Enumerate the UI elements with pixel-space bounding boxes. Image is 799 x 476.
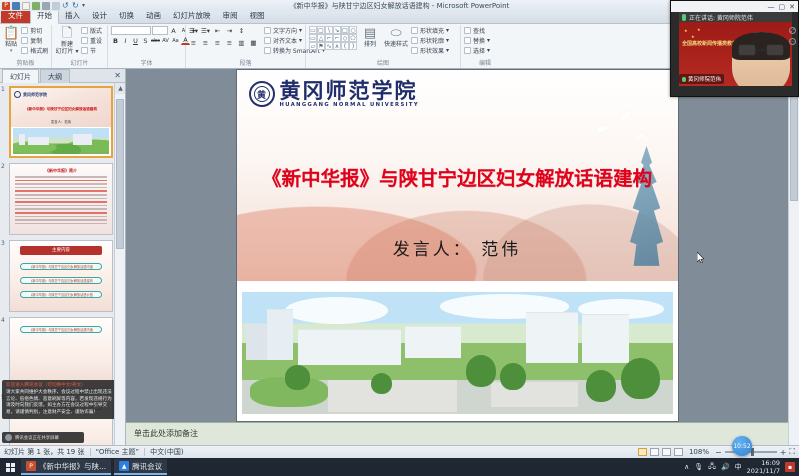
thumbnail-slide-2[interactable]: 2 《新中华报》简介 (9, 163, 113, 235)
clipboard-group-label: 剪贴板 (3, 60, 48, 68)
current-slide[interactable]: 黄 黄冈师范学院 HUANGGANG NORMAL UNIVERSITY 《新中… (237, 70, 678, 421)
ribbon-group-paragraph: ☰▾ ☰▾ ⇤ ⇥ ↕ ≡ ≡ ≡ ≡ ▥ ▦ (186, 25, 306, 68)
layout-button[interactable]: 版式 (81, 26, 102, 35)
tree (500, 363, 526, 390)
character-spacing-button[interactable]: AV (161, 36, 170, 45)
volume-icon[interactable]: 🔊 (721, 463, 730, 471)
thumbnail-number-1: 1 (1, 86, 5, 93)
slide-scroll-thumb[interactable] (790, 81, 798, 201)
copy-icon (21, 37, 28, 44)
arrange-button[interactable]: ▤ 排列 (359, 26, 381, 48)
building (526, 312, 578, 363)
paste-icon: 📋 (3, 26, 19, 41)
speaking-label: 正在讲话: 黄冈师院范伟 (689, 13, 753, 22)
thumb1-seal-icon (14, 91, 21, 98)
text-direction-icon (264, 27, 271, 34)
video-restore-button[interactable]: ▢ (779, 3, 786, 11)
shape-flag-icon[interactable]: ⚑ (317, 42, 325, 50)
replace-label: 替换 (473, 36, 485, 45)
video-close-button[interactable]: ✕ (789, 3, 795, 11)
align-center-button[interactable]: ≡ (201, 38, 210, 47)
thumbnail-scrollbar[interactable]: ▲ ▼ (114, 83, 125, 458)
paste-label: 粘贴 (5, 41, 17, 48)
text-direction-label: 文字方向 (273, 26, 297, 35)
language-indicator[interactable]: 中文(中国) (150, 447, 183, 457)
ribbon-group-font: A A ✦ B I U S abc AV Aa A (108, 25, 186, 68)
paste-dropdown-icon[interactable]: ▾ (10, 48, 13, 54)
shapes-gallery[interactable]: ▭▢ \↘ □○ ▭△ ⌐⌐ ◇⬠ ▱⚑ ∿∧ () (309, 26, 357, 50)
font-group-label: 字体 (111, 60, 182, 68)
ribbon-group-editing: 查找 替换▾ 选择▾ 编辑 (461, 25, 509, 68)
tab-outline[interactable]: 大纲 (40, 69, 70, 83)
tree (621, 358, 660, 399)
taskbar-item-tencent-meeting[interactable]: ▲ 腾讯会议 (114, 459, 167, 475)
increase-indent-button[interactable]: ⇥ (225, 26, 234, 35)
video-window-titlebar: — ▢ ✕ (671, 1, 798, 12)
university-name-cn: 黄冈师范学院 (280, 80, 420, 102)
view-normal-icon[interactable] (638, 448, 647, 456)
slide-counter: 幻灯片 第 1 张，共 19 张 (4, 447, 85, 457)
scroll-thumb[interactable] (116, 99, 124, 249)
building (246, 324, 268, 361)
cloud (285, 297, 388, 324)
meeting-timer-bubble[interactable]: 10:52 (732, 436, 752, 456)
seal-glyph: 黄 (257, 88, 266, 101)
font-name-input[interactable] (111, 26, 151, 35)
editing-group-label: 编辑 (464, 60, 506, 68)
workspace: 幻灯片 大纲 ✕ 1 黄冈师范学院 《新中 (0, 69, 799, 458)
smartart-icon (264, 47, 271, 54)
notifications-icon[interactable]: ▪ (785, 462, 795, 472)
university-name-en: HUANGGANG NORMAL UNIVERSITY (280, 102, 420, 108)
divider (144, 448, 145, 456)
select-label: 选择 (473, 46, 485, 55)
shape-square-icon[interactable]: □ (341, 26, 349, 34)
divider (90, 448, 91, 456)
slide-editor: 黄 黄冈师范学院 HUANGGANG NORMAL UNIVERSITY 《新中… (126, 69, 788, 458)
cut-button[interactable]: 剪切 (21, 26, 48, 35)
shape-corner2-icon[interactable]: ⌐ (333, 34, 341, 42)
shape-outline-button[interactable]: 形状轮廓▾ (411, 36, 449, 45)
tab-review[interactable]: 审阅 (217, 10, 244, 23)
zoom-in-button[interactable]: + (780, 448, 787, 457)
slide-canvas-area[interactable]: 黄 黄冈师范学院 HUANGGANG NORMAL UNIVERSITY 《新中… (126, 69, 788, 422)
thumbnail-number-4: 4 (1, 317, 5, 324)
thumbnail-number-2: 2 (1, 163, 5, 170)
shape-corner-icon[interactable]: ⌐ (325, 34, 333, 42)
tab-slides[interactable]: 幻灯片 (2, 69, 39, 83)
screen: P ↺ ↻ ▾ 《新中华报》与陕甘宁边区妇女解放话语建构 - Microsoft… (0, 0, 799, 476)
thumb1-logo: 黄冈师范学院 (14, 91, 47, 98)
columns-button[interactable]: ▥ (237, 38, 246, 47)
italic-button[interactable]: I (121, 36, 130, 45)
shape-fill-icon (411, 27, 418, 34)
select-button[interactable]: 选择▾ (464, 46, 490, 55)
tencent-meeting-icon: ▲ (119, 461, 129, 471)
thumb3-bullet-1: 《新中华报》与陕甘宁边区妇女解放话语内涵 (20, 263, 102, 270)
shape-caret-icon[interactable]: ∧ (333, 42, 341, 50)
view-slide-sorter-icon[interactable] (650, 448, 659, 456)
reset-icon (81, 37, 88, 44)
line-spacing-button[interactable]: ↕ (237, 26, 246, 35)
thumb1-logo-text: 黄冈师范学院 (23, 92, 47, 98)
table-button[interactable]: ▦ (249, 38, 258, 47)
building (582, 314, 629, 363)
mouse-cursor (697, 252, 704, 263)
shape-oval-icon[interactable]: ○ (349, 26, 357, 34)
status-bar: 幻灯片 第 1 张，共 19 张 “Office 主题” 中文(中国) 108%… (0, 445, 799, 458)
tray-expand-icon[interactable]: ∧ (684, 463, 689, 471)
underline-button[interactable]: U (131, 36, 140, 45)
copy-button[interactable]: 复制 (21, 36, 48, 45)
section-icon (81, 47, 88, 54)
change-case-button[interactable]: Aa (171, 36, 180, 45)
windows-logo-icon (6, 463, 15, 472)
arrange-icon: ▤ (364, 26, 376, 41)
slide-thumbnail-pane: 幻灯片 大纲 ✕ 1 黄冈师范学院 《新中 (0, 69, 126, 458)
drawing-group-label: 绘图 (309, 60, 457, 68)
nameplate-mic-icon (682, 77, 686, 82)
speaking-indicator: 正在讲话: 黄冈师院范伟 (679, 12, 792, 22)
tab-design[interactable]: 设计 (86, 10, 113, 23)
align-left-button[interactable]: ≡ (189, 38, 198, 47)
tree (466, 355, 496, 387)
numbering-button[interactable]: ☰▾ (201, 26, 210, 35)
toast-small-text: 腾讯会议正在共享屏幕 (15, 435, 59, 441)
paste-button[interactable]: 📋 粘贴 ▾ (3, 26, 19, 54)
thumb1-photo (13, 128, 109, 154)
tray-clock[interactable]: 16:09 2021/11/7 (747, 459, 780, 475)
dove-icon (618, 110, 633, 122)
close-pane-icon[interactable]: ✕ (110, 71, 125, 80)
status-bar-right: 108% − + ⛶ (638, 447, 795, 457)
tree (371, 373, 393, 395)
thumbnail-slide-3[interactable]: 3 主要内容 《新中华报》与陕甘宁边区妇女解放话语内涵 《新中华报》与陕甘宁边区… (9, 240, 113, 312)
tab-slideshow[interactable]: 幻灯片放映 (167, 10, 217, 23)
thumb-building (73, 134, 92, 144)
plaza (328, 380, 457, 412)
slide-speaker[interactable]: 发言人： 范伟 (237, 235, 678, 260)
video-side-controls[interactable]: ⤢ ⋯ (789, 27, 796, 45)
layout-icon (81, 27, 88, 34)
new-slide-icon: 🗋 (62, 26, 72, 41)
shape-rounded-icon[interactable]: ▢ (317, 26, 325, 34)
shape-parallelogram-icon[interactable]: ▱ (309, 42, 317, 50)
tab-view[interactable]: 视图 (244, 10, 271, 23)
bold-button[interactable]: B (111, 36, 120, 45)
thumb-building (28, 137, 49, 145)
paragraph-group-label: 段落 (189, 60, 302, 68)
video-expand-icon[interactable]: ⤢ (789, 27, 796, 34)
shape-pentagon-icon[interactable]: ⬠ (349, 34, 357, 42)
shape-diamond-icon[interactable]: ◇ (341, 34, 349, 42)
zoom-out-button[interactable]: − (715, 448, 722, 457)
reset-label: 重设 (90, 36, 102, 45)
select-icon (464, 47, 471, 54)
thumb3-bullet-2: 《新中华报》与陕甘宁边区妇女解放话语建构 (20, 277, 102, 284)
cut-icon (21, 27, 28, 34)
strikethrough-button[interactable]: abc (151, 36, 160, 45)
shadow-button[interactable]: S (141, 36, 150, 45)
align-text-label: 对齐文本 (273, 36, 297, 45)
zoom-slider[interactable] (725, 451, 777, 453)
replace-button[interactable]: 替换▾ (464, 36, 490, 45)
section-button[interactable]: 节 (81, 46, 102, 55)
shape-outline-label: 形状轮廓 (420, 36, 444, 45)
shape-arrow-icon[interactable]: ↘ (333, 26, 341, 34)
video-minimize-button[interactable]: — (768, 3, 775, 11)
ribbon-group-slides: 🗋 新建 幻灯片 ▾ 版式 重设 节 幻灯片 (52, 25, 108, 68)
thumb1-subtitle: 发言人：范伟 (11, 119, 111, 124)
taskbar-item-powerpoint[interactable]: P 《新中华报》与陕... (21, 459, 111, 475)
video-more-icon[interactable]: ⋯ (789, 38, 796, 45)
shape-effects-icon (411, 47, 418, 54)
new-slide-label: 新建 (61, 41, 73, 48)
thumb2-body-text (15, 176, 107, 226)
new-slide-button[interactable]: 🗋 新建 幻灯片 ▾ (55, 26, 79, 55)
fit-to-window-button[interactable]: ⛶ (789, 447, 795, 457)
thumbnail-slide-1[interactable]: 1 黄冈师范学院 《新中华报》与陕甘宁边区妇女解放话语建构 发言人：范伟 (9, 86, 113, 158)
view-reading-icon[interactable] (662, 448, 671, 456)
dove-icon (596, 125, 608, 133)
zoom-level: 108% (689, 448, 709, 456)
section-label: 节 (90, 46, 96, 55)
quick-styles-button[interactable]: ⬭ 快速样式 (383, 26, 409, 48)
mic-icon (682, 14, 686, 21)
tab-insert[interactable]: 插入 (59, 10, 86, 23)
tray-date: 2021/11/7 (747, 467, 780, 475)
thumbnail-slide-4[interactable]: 4 《新中华报》与陕甘宁边区妇女解放话语内涵 (9, 317, 113, 389)
find-label: 查找 (473, 26, 485, 35)
tray-time: 16:09 (747, 459, 780, 467)
toast-headline: 欢迎进入腾讯会议（可切换中文/英文） (6, 383, 113, 389)
notes-placeholder: 单击此处添加备注 (134, 429, 198, 438)
justify-button[interactable]: ≡ (225, 38, 234, 47)
font-size-input[interactable] (152, 26, 168, 35)
align-right-button[interactable]: ≡ (213, 38, 222, 47)
cut-label: 剪切 (30, 26, 42, 35)
shape-rect-icon[interactable]: ▭ (309, 26, 317, 34)
ribbon-group-drawing: ▭▢ \↘ □○ ▭△ ⌐⌐ ◇⬠ ▱⚑ ∿∧ () ▤ 排列 (306, 25, 461, 68)
taskbar-tencent-label: 腾讯会议 (132, 461, 162, 472)
tencent-meeting-toast-small: 腾讯会议正在共享屏幕 (2, 432, 84, 443)
toast-body: 请大家共同维护大会秩序，会议过程中禁止出现违法言论、低俗色情、恶意刷屏等内容，若… (6, 390, 113, 416)
slide-title[interactable]: 《新中华报》与陕甘宁边区妇女解放话语建构 (243, 162, 672, 191)
replace-icon (464, 37, 471, 44)
dove-icon (634, 132, 644, 141)
thumb-building (19, 134, 26, 145)
layout-label: 版式 (90, 26, 102, 35)
taskbar-powerpoint-label: 《新中华报》与陕... (39, 461, 106, 472)
thumbnail-pane-tabs[interactable]: 幻灯片 大纲 ✕ (0, 69, 125, 83)
shape-brace-left-icon[interactable]: ( (341, 42, 349, 50)
thumbnail-list[interactable]: 1 黄冈师范学院 《新中华报》与陕甘宁边区妇女解放话语建构 发言人：范伟 (0, 83, 125, 458)
shape-line-icon[interactable]: \ (325, 26, 333, 34)
bullets-button[interactable]: ☰▾ (189, 26, 198, 35)
glasses-icon (738, 44, 784, 56)
tab-home[interactable]: 开始 (30, 9, 59, 24)
format-painter-icon (21, 47, 28, 54)
shape-triangle-icon[interactable]: △ (317, 34, 325, 42)
network-icon[interactable]: 🖧 (708, 462, 716, 473)
shape-effects-label: 形状效果 (420, 46, 444, 55)
theme-name: “Office 主题” (96, 447, 140, 457)
thumb3-title: 主要内容 (20, 246, 102, 255)
shape-effects-button[interactable]: 形状效果▾ (411, 46, 449, 55)
tencent-meeting-toast: 欢迎进入腾讯会议（可切换中文/英文） 请大家共同维护大会秩序，会议过程中禁止出现… (2, 380, 117, 419)
building (298, 329, 401, 366)
quick-styles-icon: ⬭ (390, 26, 401, 41)
thumb2-title: 《新中华报》简介 (10, 168, 112, 174)
quick-styles-label: 快速样式 (384, 41, 408, 48)
shape-curve-icon[interactable]: ∿ (325, 42, 333, 50)
thumbnail-number-3: 3 (1, 240, 5, 247)
slide-scrollbar[interactable]: ▲ ▼ (788, 69, 799, 458)
format-painter-button[interactable]: 格式刷 (21, 46, 48, 55)
tree (586, 370, 616, 402)
powerpoint-icon: P (26, 461, 36, 471)
ribbon-group-clipboard: 📋 粘贴 ▾ 剪切 复制 格式刷 剪贴板 (0, 25, 52, 68)
shape-outline-icon (411, 37, 418, 44)
grow-font-icon[interactable]: A (169, 26, 178, 35)
format-painter-label: 格式刷 (30, 46, 48, 55)
find-icon (464, 27, 471, 34)
align-text-icon (264, 37, 271, 44)
shape-fill-label: 形状填充 (420, 26, 444, 35)
university-seal-icon: 黄 (249, 81, 275, 107)
building (405, 326, 461, 358)
nameplate-label: 黄冈师院范伟 (688, 75, 721, 83)
ime-indicator[interactable]: 中 (735, 462, 742, 472)
participant-nameplate: 黄冈师院范伟 (679, 74, 724, 84)
new-slide-label2: 幻灯片 ▾ (56, 48, 79, 55)
tree (285, 365, 311, 389)
thumb1-title: 《新中华报》与陕甘宁边区妇女解放话语建构 (13, 107, 109, 112)
building (267, 309, 293, 360)
microphone-icon[interactable]: 🎙 (694, 463, 703, 471)
scroll-up-icon[interactable]: ▲ (115, 83, 125, 94)
tab-transitions[interactable]: 切换 (113, 10, 140, 23)
copy-label: 复制 (30, 36, 42, 45)
system-tray: ∧ 🎙 🖧 🔊 中 16:09 2021/11/7 ▪ (684, 459, 799, 475)
thumb3-bullet-3: 《新中华报》与陕甘宁边区妇女解放话语价值 (20, 291, 102, 298)
arrange-label: 排列 (364, 41, 376, 48)
taskbar: P 《新中华报》与陕... ▲ 腾讯会议 ∧ 🎙 🖧 🔊 中 16:09 202… (0, 458, 799, 476)
start-button[interactable] (2, 459, 18, 475)
university-logo: 黄 黄冈师范学院 HUANGGANG NORMAL UNIVERSITY (249, 80, 420, 108)
reset-button[interactable]: 重设 (81, 36, 102, 45)
shape-rect2-icon[interactable]: ▭ (309, 34, 317, 42)
tab-file[interactable]: 文件 (1, 10, 30, 23)
find-button[interactable]: 查找 (464, 26, 490, 35)
tab-animations[interactable]: 动画 (140, 10, 167, 23)
view-slideshow-icon[interactable] (674, 448, 683, 456)
thumb4-banner: 《新中华报》与陕甘宁边区妇女解放话语内涵 (20, 326, 102, 333)
toast-avatar-icon (5, 434, 12, 441)
decrease-indent-button[interactable]: ⇤ (213, 26, 222, 35)
slides-group-label: 幻灯片 (55, 60, 104, 68)
shape-fill-button[interactable]: 形状填充▾ (411, 26, 449, 35)
shape-brace-right-icon[interactable]: ) (349, 42, 357, 50)
video-window[interactable]: — ▢ ✕ 正在讲话: 黄冈师院范伟 ★ ★ ★ 全国高校新闻传播类教学大会 黄… (670, 0, 799, 97)
campus-photo[interactable] (242, 292, 673, 414)
